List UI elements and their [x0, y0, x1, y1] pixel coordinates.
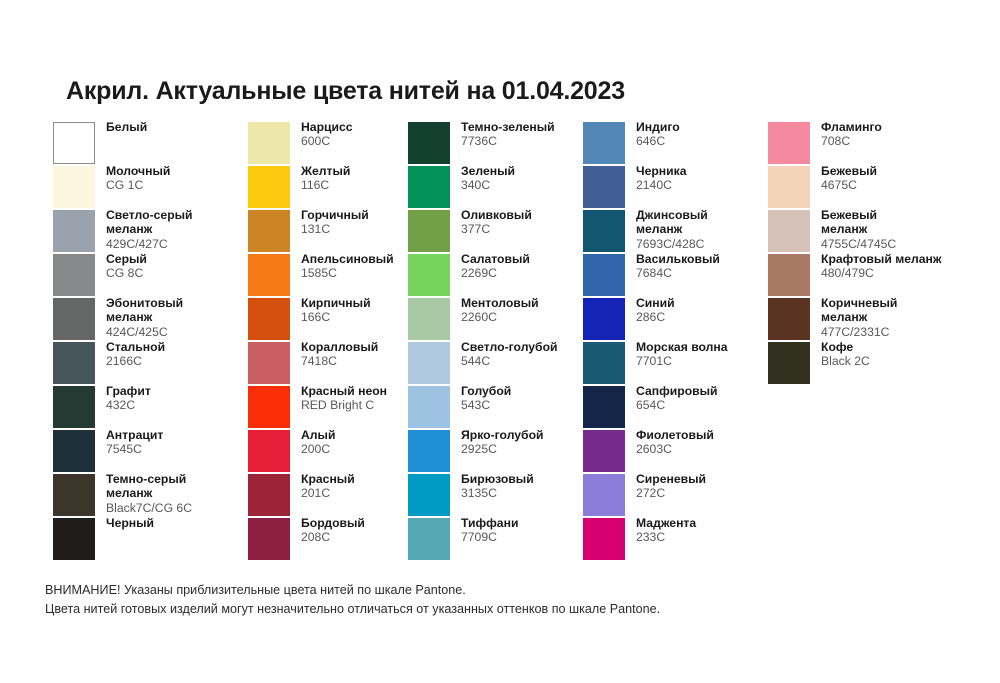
color-label-group: Коричневыймеланж477C/2331C — [821, 296, 1000, 339]
color-name: Бежевый — [821, 164, 1000, 178]
color-label-group: КофеBlack 2C — [821, 340, 1000, 369]
color-label-group: Фиолетовый2603C — [636, 428, 816, 457]
color-name: Бежевый — [821, 208, 1000, 222]
color-swatch[interactable] — [53, 474, 95, 516]
color-swatch[interactable] — [768, 298, 810, 340]
color-code: 600C — [301, 134, 481, 149]
color-code: 7418C — [301, 354, 481, 369]
color-swatch[interactable] — [408, 474, 450, 516]
color-label-group: Сиреневый272C — [636, 472, 816, 501]
color-name: Кирпичный — [301, 296, 481, 310]
color-swatch[interactable] — [408, 166, 450, 208]
color-code: 272C — [636, 486, 816, 501]
color-name: Апельсиновый — [301, 252, 481, 266]
color-swatch[interactable] — [53, 430, 95, 472]
color-swatch[interactable] — [583, 298, 625, 340]
color-swatch[interactable] — [583, 342, 625, 384]
color-swatch[interactable] — [53, 166, 95, 208]
color-swatch[interactable] — [248, 166, 290, 208]
color-swatch[interactable] — [583, 122, 625, 164]
color-swatch[interactable] — [53, 298, 95, 340]
color-swatch[interactable] — [408, 210, 450, 252]
color-name: Желтый — [301, 164, 481, 178]
color-swatch[interactable] — [248, 298, 290, 340]
color-name: Коричневый — [821, 296, 1000, 310]
color-label-group: Коралловый7418C — [301, 340, 481, 369]
footer-line-1: ВНИМАНИЕ! Указаны приблизительные цвета … — [45, 581, 945, 600]
color-code: 480/479C — [821, 266, 1000, 281]
color-code: Black 2C — [821, 354, 1000, 369]
color-swatch[interactable] — [53, 518, 95, 560]
color-swatch[interactable] — [583, 166, 625, 208]
color-label-group: Красный неонRED Bright C — [301, 384, 481, 413]
color-swatch[interactable] — [583, 254, 625, 296]
color-name: Маджента — [636, 516, 816, 530]
color-swatch[interactable] — [408, 122, 450, 164]
color-name: меланж — [821, 222, 1000, 236]
color-code: 477C/2331C — [821, 325, 1000, 340]
color-name: Крафтовый меланж — [821, 252, 1000, 266]
color-swatch[interactable] — [53, 210, 95, 252]
color-code: 708C — [821, 134, 1000, 149]
color-label-group: Горчичный131C — [301, 208, 481, 237]
color-swatch[interactable] — [248, 518, 290, 560]
color-name: Горчичный — [301, 208, 481, 222]
color-swatch[interactable] — [408, 254, 450, 296]
color-swatch[interactable] — [768, 122, 810, 164]
color-code: 4755C/4745C — [821, 237, 1000, 252]
color-label-group: Нарцисс600C — [301, 120, 481, 149]
color-label-group: Апельсиновый1585C — [301, 252, 481, 281]
color-code: 1585C — [301, 266, 481, 281]
color-label-group: Бежевый4675C — [821, 164, 1000, 193]
color-swatch[interactable] — [248, 342, 290, 384]
color-label-group: Желтый116C — [301, 164, 481, 193]
color-label-group: Алый200C — [301, 428, 481, 457]
color-swatch[interactable] — [248, 430, 290, 472]
color-swatch[interactable] — [248, 386, 290, 428]
color-swatch[interactable] — [408, 518, 450, 560]
color-name: меланж — [821, 310, 1000, 324]
color-swatch[interactable] — [768, 342, 810, 384]
color-swatch[interactable] — [53, 386, 95, 428]
color-name: Сиреневый — [636, 472, 816, 486]
color-swatch[interactable] — [408, 430, 450, 472]
color-code: 200C — [301, 442, 481, 457]
color-swatch[interactable] — [248, 210, 290, 252]
color-name: Красный — [301, 472, 481, 486]
color-name: Алый — [301, 428, 481, 442]
color-code: 233C — [636, 530, 816, 545]
color-name: Бордовый — [301, 516, 481, 530]
color-swatch[interactable] — [53, 122, 95, 164]
color-swatch[interactable] — [408, 342, 450, 384]
color-swatch[interactable] — [53, 342, 95, 384]
color-swatch[interactable] — [583, 518, 625, 560]
color-code: 208C — [301, 530, 481, 545]
color-label-group: Маджента233C — [636, 516, 816, 545]
color-label-group: Крафтовый меланж480/479C — [821, 252, 1000, 281]
color-label-group: Бордовый208C — [301, 516, 481, 545]
color-name: Сапфировый — [636, 384, 816, 398]
color-code: 654C — [636, 398, 816, 413]
color-code: 116C — [301, 178, 481, 193]
color-swatch[interactable] — [583, 474, 625, 516]
color-swatch[interactable] — [248, 474, 290, 516]
footer-line-2: Цвета нитей готовых изделий могут незнач… — [45, 600, 945, 619]
color-code: 201C — [301, 486, 481, 501]
color-name: Красный неон — [301, 384, 481, 398]
color-swatch[interactable] — [583, 386, 625, 428]
color-code: 131C — [301, 222, 481, 237]
color-swatch[interactable] — [408, 386, 450, 428]
color-swatch[interactable] — [408, 298, 450, 340]
color-swatch[interactable] — [583, 430, 625, 472]
color-name: Нарцисс — [301, 120, 481, 134]
color-swatch[interactable] — [768, 166, 810, 208]
color-swatch[interactable] — [248, 254, 290, 296]
color-code: 2603C — [636, 442, 816, 457]
color-swatch[interactable] — [248, 122, 290, 164]
color-code: 4675C — [821, 178, 1000, 193]
color-name: Коралловый — [301, 340, 481, 354]
color-label-group: Красный201C — [301, 472, 481, 501]
color-name: Фиолетовый — [636, 428, 816, 442]
color-name: Фламинго — [821, 120, 1000, 134]
color-label-group: Кирпичный166C — [301, 296, 481, 325]
color-code: RED Bright C — [301, 398, 481, 413]
color-label-group: Бежевыймеланж4755C/4745C — [821, 208, 1000, 251]
color-label-group: Фламинго708C — [821, 120, 1000, 149]
footer-note: ВНИМАНИЕ! Указаны приблизительные цвета … — [45, 581, 945, 619]
color-label-group: Сапфировый654C — [636, 384, 816, 413]
page-title: Акрил. Актуальные цвета нитей на 01.04.2… — [66, 77, 625, 106]
color-name: Кофе — [821, 340, 1000, 354]
color-code: 166C — [301, 310, 481, 325]
color-swatch[interactable] — [583, 210, 625, 252]
color-swatch[interactable] — [768, 210, 810, 252]
color-swatch[interactable] — [768, 254, 810, 296]
color-swatch[interactable] — [53, 254, 95, 296]
